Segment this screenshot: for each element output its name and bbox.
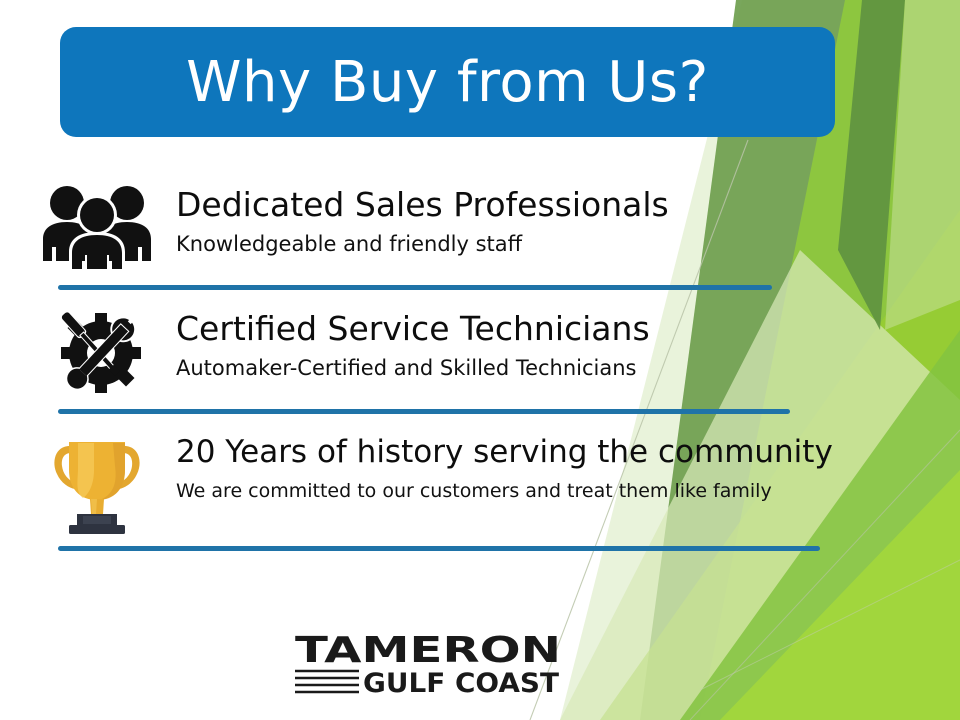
wrench-screwdriver-gear-icon — [38, 307, 156, 399]
logo-speed-lines — [295, 671, 359, 692]
feature-subheading: We are committed to our customers and tr… — [176, 476, 838, 506]
logo-primary-text: TAMERON — [295, 630, 561, 671]
trophy-icon — [38, 430, 156, 534]
title-banner: Why Buy from Us? — [60, 27, 835, 137]
feature-text-block: 20 Years of history serving the communit… — [156, 430, 838, 506]
feature-text-block: Dedicated Sales Professionals Knowledgea… — [156, 183, 838, 259]
feature-subheading: Knowledgeable and friendly staff — [176, 229, 838, 259]
tameron-gulf-coast-logo: TAMERON GULF COAST — [293, 630, 563, 696]
feature-heading: 20 Years of history serving the communit… — [176, 432, 838, 472]
slide-canvas: Why Buy from Us? Dedicated Sales Profess… — [0, 0, 960, 720]
divider-rule — [58, 409, 790, 414]
feature-row: Certified Service Technicians Automaker-… — [38, 307, 838, 399]
feature-subheading: Automaker-Certified and Skilled Technici… — [176, 353, 838, 383]
divider-rule — [58, 546, 820, 551]
feature-row: 20 Years of history serving the communit… — [38, 430, 838, 534]
feature-text-block: Certified Service Technicians Automaker-… — [156, 307, 838, 383]
group-of-people-icon — [38, 183, 156, 269]
logo-secondary-text: GULF COAST — [363, 668, 560, 696]
divider-rule — [58, 285, 772, 290]
feature-heading: Dedicated Sales Professionals — [176, 185, 838, 225]
feature-heading: Certified Service Technicians — [176, 309, 838, 349]
feature-row: Dedicated Sales Professionals Knowledgea… — [38, 183, 838, 269]
page-title: Why Buy from Us? — [186, 50, 709, 115]
